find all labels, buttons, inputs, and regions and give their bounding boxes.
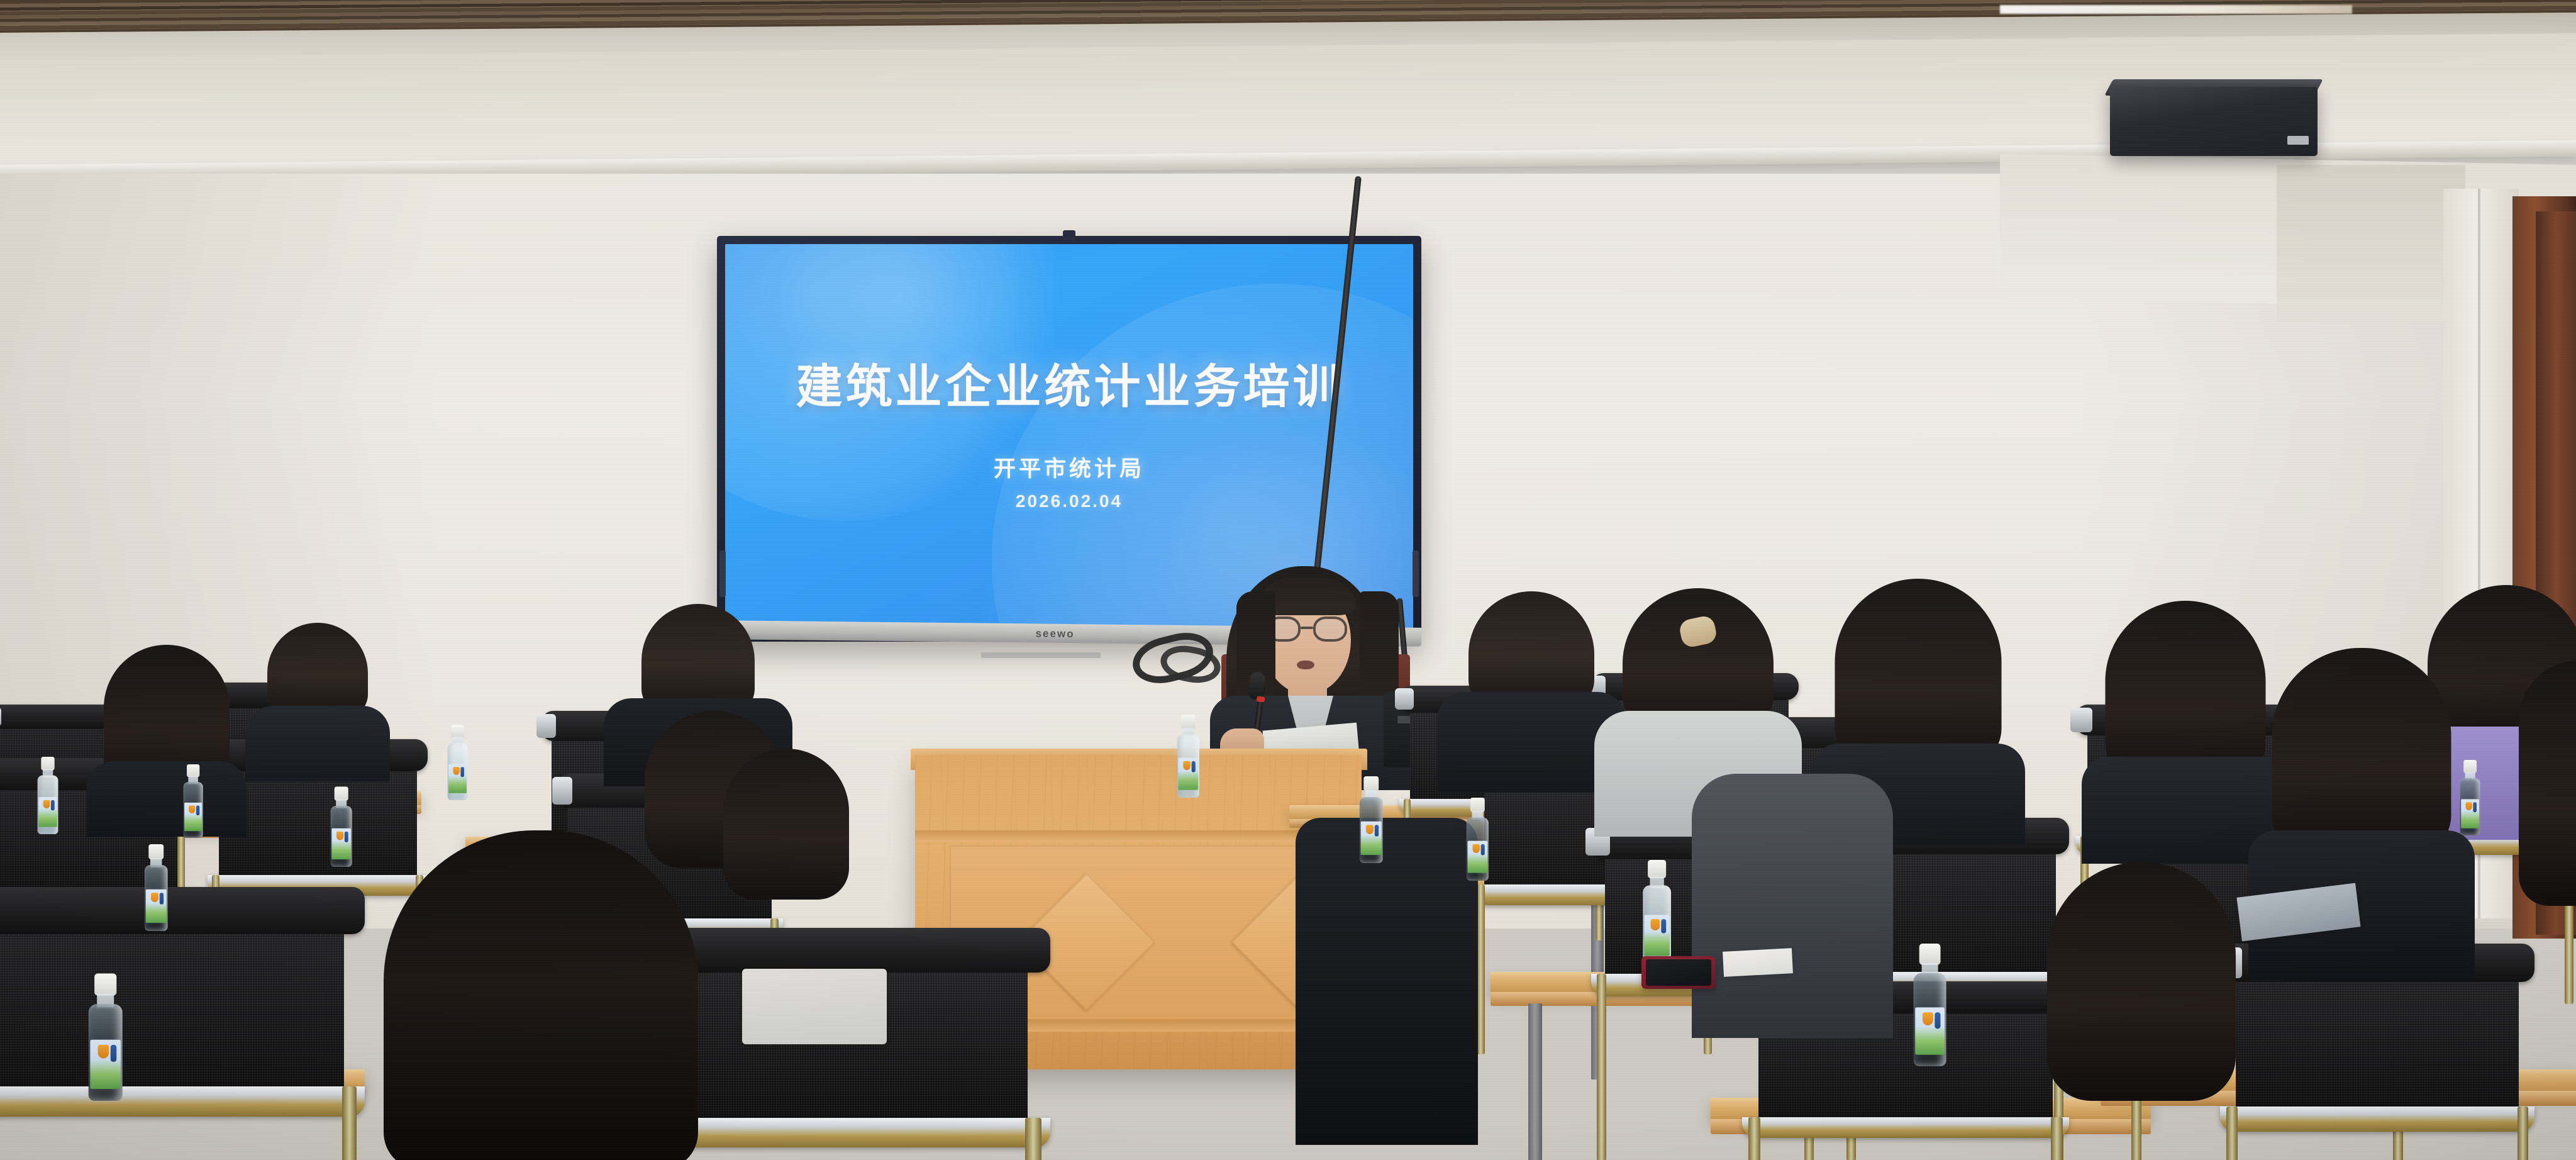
bottle-label-accent [1935,1012,1940,1029]
bottle-label-accent [111,1045,116,1062]
water-bottle[interactable] [87,974,124,1101]
bottle-cap [187,764,199,777]
attendee-hair [2106,601,2266,780]
bottle-shield-icon [43,800,50,808]
bottle-shield-icon [1923,1012,1933,1025]
chair-headrest [0,887,365,934]
attendee [1824,579,2012,793]
bottle-shield-icon [98,1045,109,1059]
water-bottle[interactable] [1465,798,1490,881]
ceiling-light-strip [2000,5,2352,14]
wall-speaker-icon [2110,87,2318,156]
bottle-cap [451,725,464,738]
camera-icon [1063,230,1075,240]
attendee [711,749,862,937]
chair-leg-left [1597,974,1606,1160]
bottle-shield-icon [151,893,158,902]
bottle-label-accent [2473,802,2477,812]
speaker-body [2110,87,2318,156]
bottle-cap [1919,944,1941,965]
display-side-button-left[interactable] [719,550,726,597]
attendee [2516,661,2576,925]
bottle-cap [2463,760,2477,773]
attendee [1692,774,1893,1038]
water-bottle[interactable] [1912,944,1948,1066]
bottle-cap [1181,715,1196,729]
chair-frame-bar [1742,1117,2069,1138]
attendee-foreground [377,830,704,1160]
microphone-indicator [1257,696,1265,703]
bottle-shield-icon [2465,802,2472,810]
chair-back-mesh [0,934,344,1089]
slide-date: 2026.02.04 [1016,493,1123,510]
training-room-photo: 建筑业企业统计业务培训 开平市统计局 2026.02.04 seewo [0,0,2576,1160]
water-bottle[interactable] [36,757,59,834]
attendee-hair [2272,648,2451,856]
attendee-head [1468,591,1594,708]
bottle-shield-icon [1472,844,1479,853]
bottle-label-accent [160,893,164,904]
bottle-cap [1470,798,1485,812]
attendee-body [1692,774,1893,1038]
water-bottle[interactable] [143,844,169,931]
chair-back-mesh [2236,982,2519,1109]
bottle-shield-icon [1366,825,1374,834]
chair-leg-right [1025,1118,1041,1160]
bottle-cap [1648,860,1666,878]
phone-screen[interactable] [1646,959,1711,986]
water-bottle[interactable] [182,764,204,838]
podium-band-upper [915,830,1362,842]
bottle-cap [335,787,348,801]
bottle-label-accent [1192,761,1196,772]
attendee [2038,862,2245,1160]
chair-leg-right [342,1086,357,1160]
bottle-shield-icon [336,832,343,840]
bottle-label-accent [196,806,199,816]
attendee [252,623,384,767]
bottle-label-accent [51,800,55,810]
chair[interactable] [0,887,365,1160]
bottle-cap [94,974,116,996]
chair-leg-left [1748,1117,1760,1160]
chair-frame-bar [2220,1107,2534,1132]
water-bottle[interactable] [1358,776,1384,863]
bottle-cap [41,757,54,770]
bottle-shield-icon [1183,761,1190,770]
attendee-hair [384,830,698,1160]
paper-sheet [1723,948,1793,977]
bottle-label-accent [460,767,464,777]
desk-leg [1528,1003,1542,1160]
cushion [742,969,887,1044]
bottle-label-accent [1481,844,1485,856]
bottle-label-accent [1375,825,1379,836]
attendee [1453,591,1610,767]
slide-organization: 开平市统计局 [994,458,1145,480]
water-bottle[interactable] [2459,760,2481,835]
display-brand-label: seewo [1036,627,1075,640]
presenter-mouth [1297,661,1314,669]
bottle-shield-icon [453,767,459,775]
glasses-icon [1267,616,1347,642]
attendee-body [245,706,390,781]
attendee-head [641,604,755,714]
soffit-drop-face [2277,165,2465,322]
bottle-label-accent [345,832,348,842]
bottle-shield-icon [189,806,195,813]
attendee-hair [2047,862,2236,1101]
attendee [1296,818,1478,1145]
attendee-hair [723,749,849,900]
attendee-body [87,761,247,837]
bottle-label-accent [1661,919,1666,933]
chair-leg-right [2518,1107,2529,1160]
bottle-cap [148,844,164,859]
water-bottle[interactable] [1176,715,1201,798]
glasses-bridge [1301,627,1313,629]
glasses-lens-right [1313,616,1347,642]
smartphone[interactable] [1641,956,1716,989]
water-bottle[interactable] [447,725,469,800]
attendee [2261,648,2462,912]
attendee-body [1296,818,1478,1145]
slide-title: 建筑业企业统计业务培训 [796,364,1343,410]
attendee-hair [2519,661,2576,906]
bottle-cap [1363,776,1379,791]
display-ir-sensor-icon [981,652,1101,658]
chair-frame-bar [0,1086,365,1117]
water-bottle[interactable] [330,787,353,867]
bottle-shield-icon [1651,919,1660,930]
attendee [2094,601,2277,808]
attendee-hair [1835,579,2002,767]
speaker-brand-badge [2287,136,2309,145]
water-bottle[interactable] [1641,860,1672,966]
attendee [94,645,239,808]
attendee-head [267,623,368,717]
